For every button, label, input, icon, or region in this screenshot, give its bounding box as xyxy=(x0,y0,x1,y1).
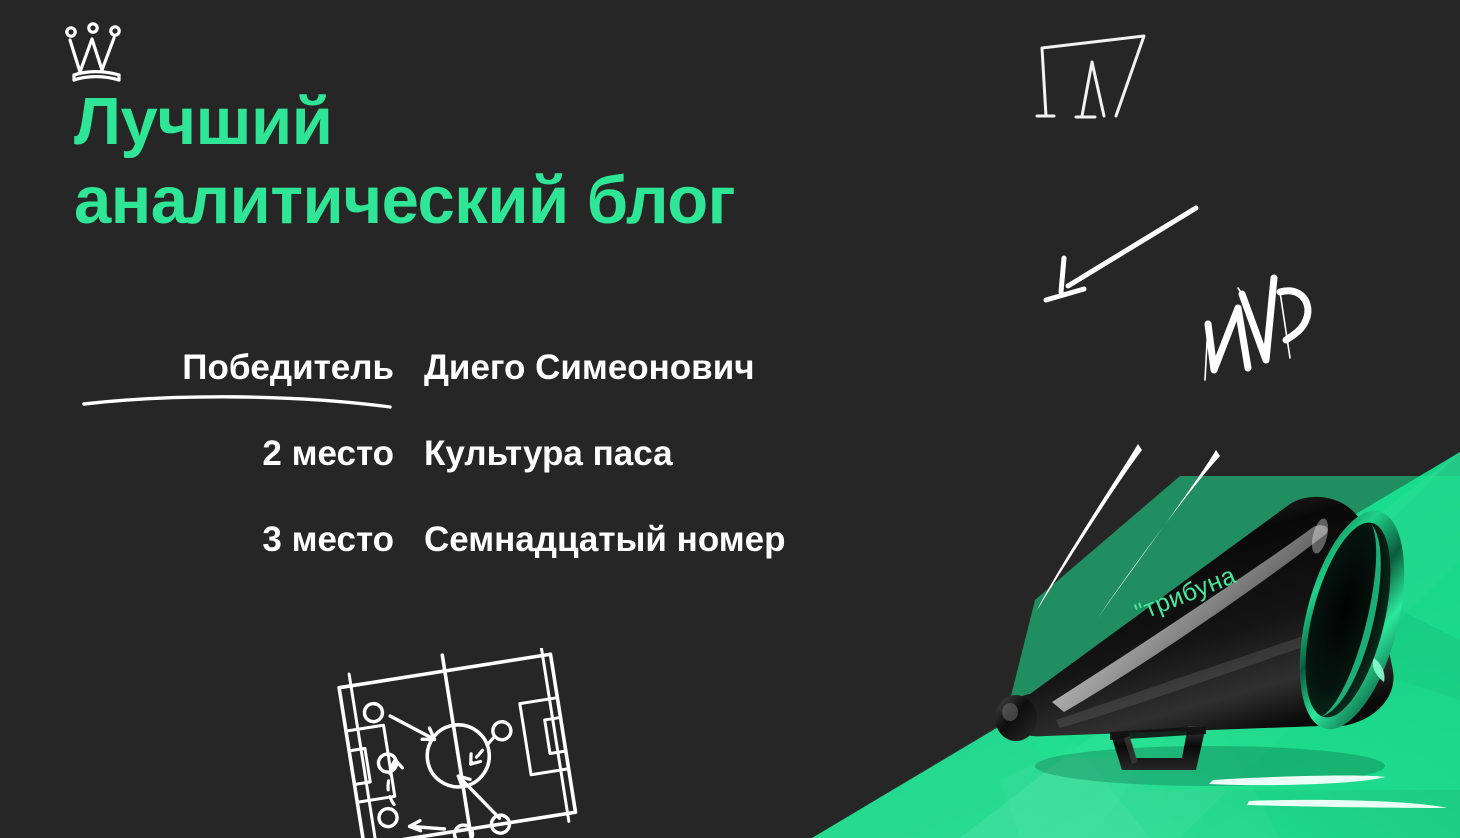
crown-icon xyxy=(62,12,134,84)
place-label-second: 2 место xyxy=(74,434,394,474)
second-place-name: Культура паса xyxy=(424,434,785,474)
tactics-board-doodle xyxy=(332,648,582,838)
speed-lines-dark xyxy=(1020,440,1240,620)
place-text: Победитель xyxy=(182,348,394,387)
winner-underline xyxy=(82,392,394,412)
speed-lines-green xyxy=(1185,768,1455,828)
mvp-doodle xyxy=(1196,262,1336,382)
zigzag-bracket-doodle xyxy=(1032,24,1160,124)
poster-canvas: Лучший аналитический блог Победитель Дие… xyxy=(0,0,1460,838)
arrow-down-left-doodle xyxy=(1028,196,1208,306)
third-place-name: Семнадцатый номер xyxy=(424,520,785,560)
megaphone-illustration xyxy=(960,470,1460,800)
page-title: Лучший аналитический блог xyxy=(74,82,735,240)
place-label-winner: Победитель xyxy=(74,348,394,388)
place-text: 3 место xyxy=(262,520,394,559)
title-line-2: аналитический блог xyxy=(74,161,735,240)
megaphone-logo-text: "трибуна xyxy=(1131,561,1240,628)
title-line-1: Лучший xyxy=(74,84,332,159)
place-text: 2 место xyxy=(262,434,394,473)
place-label-third: 3 место xyxy=(74,520,394,560)
winners-list: Победитель Диего Симеонович 2 место Куль… xyxy=(74,348,785,560)
winner-name: Диего Симеонович xyxy=(424,348,785,388)
